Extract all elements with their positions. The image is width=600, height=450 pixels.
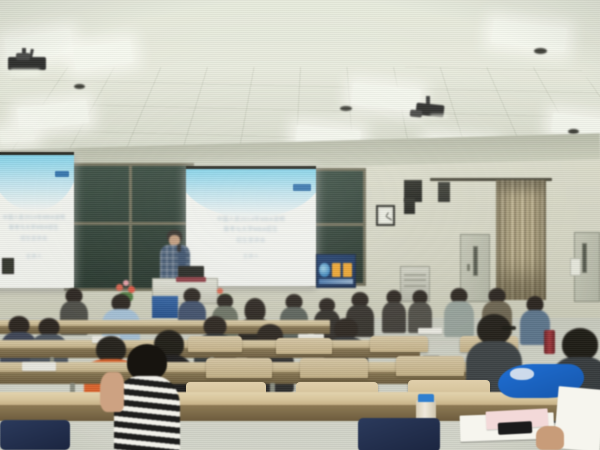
flower-petal	[123, 280, 129, 286]
chair-back	[188, 336, 242, 352]
slide-line-1: 中国人民2014年MBA说明	[0, 214, 74, 222]
chair-back	[396, 356, 464, 376]
floor-standing-panel	[152, 296, 178, 320]
attendee-arm	[100, 372, 124, 412]
slide-logo-icon	[55, 171, 69, 177]
window-curtain	[496, 180, 546, 300]
phone	[498, 421, 533, 435]
navy-bag	[358, 418, 440, 450]
door-window	[473, 246, 478, 276]
papers	[418, 328, 442, 334]
papers	[22, 362, 56, 371]
slide-line-3: 招生宣讲会	[0, 235, 74, 243]
eyeglasses-icon	[502, 326, 516, 330]
wall-clock	[376, 205, 395, 226]
slide-line-2: 联考与大学MBA招生	[186, 226, 316, 234]
lecture-hall-photo: 中国人民2014年MBA说明 联考与大学MBA招生 招生宣讲会 主讲人 中国人民…	[0, 0, 600, 450]
bottle-cap	[418, 394, 434, 402]
slide-logo-icon	[293, 184, 311, 191]
attendee	[408, 290, 432, 332]
laptop	[176, 266, 206, 284]
slide-line-3: 招生宣讲会	[186, 237, 316, 245]
banner-subtitle-strip	[319, 279, 353, 284]
slide-line-1: 中国人民2014年MBA说明	[186, 216, 316, 224]
door-window	[582, 243, 587, 273]
flower-petal	[116, 284, 123, 291]
slide-header-band	[186, 169, 316, 218]
slide-line-2: 联考与大学MBA招生	[0, 224, 74, 232]
ceiling-speaker-icon	[340, 106, 352, 111]
ceiling-speaker-icon	[74, 84, 85, 89]
laptop-base	[176, 277, 206, 282]
ceiling-projector-right	[410, 96, 452, 124]
slide-header-band	[0, 155, 74, 211]
attendee-head	[127, 344, 167, 380]
slide-footer: 主讲人	[186, 253, 316, 261]
chair-back	[276, 338, 332, 354]
ceiling-speaker-icon	[534, 48, 547, 54]
banner-title-text	[332, 263, 352, 278]
wall-speaker	[438, 182, 450, 202]
navy-bag	[0, 420, 70, 450]
banner-globe-logo-icon	[319, 263, 330, 277]
microphone-icon	[177, 244, 181, 252]
door-handle-icon[interactable]	[467, 264, 470, 271]
event-banner	[316, 254, 356, 288]
wall-notice	[570, 258, 581, 276]
chair-back	[300, 358, 368, 378]
wall-speaker	[404, 198, 415, 214]
chair-back	[206, 358, 272, 378]
ceiling-projector-left	[6, 48, 50, 78]
bag-white-detail	[510, 368, 534, 380]
hand	[536, 426, 564, 450]
attendee	[382, 290, 406, 332]
wall-notice	[2, 258, 14, 274]
chair-back	[370, 336, 428, 352]
